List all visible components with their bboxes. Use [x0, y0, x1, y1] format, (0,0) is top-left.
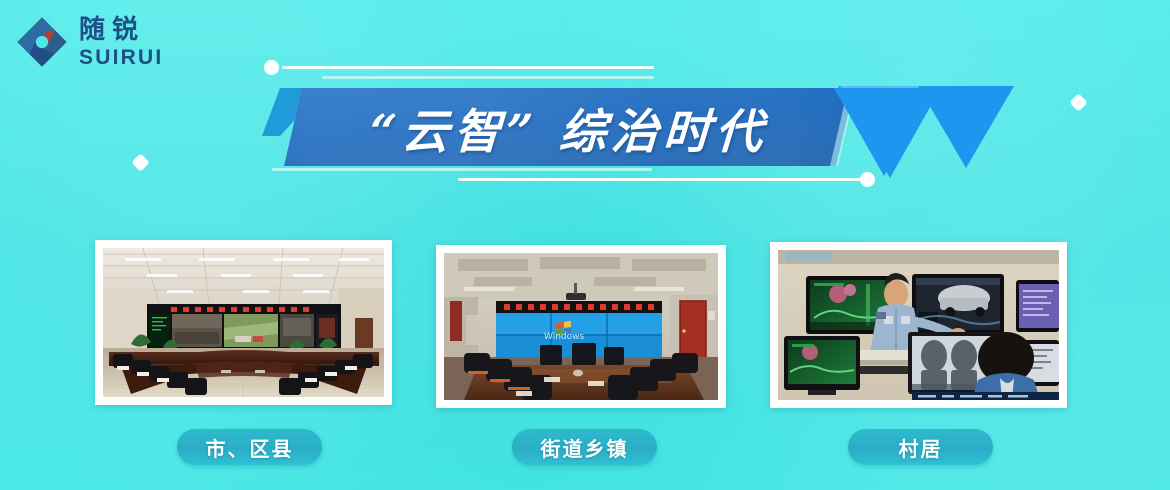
card-caption-label: 街道乡镇	[541, 433, 629, 462]
photo-card[interactable]	[95, 240, 392, 405]
white-diamond-icon	[131, 153, 149, 171]
white-diamond-icon	[1069, 93, 1087, 111]
svg-text:Windows: Windows	[544, 332, 584, 342]
card-caption-pill[interactable]: 街道乡镇	[512, 429, 657, 465]
suirui-pinwheel-logo-icon	[14, 14, 70, 70]
banner-top-dot-icon	[264, 60, 279, 75]
photo-command-center-conference-room	[103, 248, 384, 397]
card-caption-pill[interactable]: 村居	[848, 429, 993, 465]
photo-township-meeting-room: Windows	[444, 253, 718, 400]
page-title: “云智” 综治时代	[368, 93, 769, 162]
banner-top-line	[322, 76, 654, 79]
brand-name-en: SUIRUI	[79, 47, 163, 68]
photo-police-monitoring-room	[778, 250, 1059, 400]
brand-logo[interactable]: 随锐 SUIRUI	[14, 14, 163, 70]
card-caption-pill[interactable]: 市、区县	[177, 429, 322, 465]
brand-name-cn: 随锐	[79, 17, 163, 43]
title-banner: “云智” 综治时代	[262, 58, 952, 188]
banner-body: “云智” 综治时代	[284, 88, 854, 166]
photo-card[interactable]	[770, 242, 1067, 408]
card-caption-label: 市、区县	[206, 433, 294, 462]
banner-top-line	[282, 66, 654, 69]
photo-card[interactable]: Windows	[436, 245, 726, 408]
card-caption-label: 村居	[899, 433, 943, 462]
banner-bottom-line	[458, 178, 862, 181]
banner-bottom-line	[272, 168, 652, 171]
banner-bottom-dot-icon	[860, 172, 875, 187]
banner-triangle-icon	[918, 86, 1014, 168]
